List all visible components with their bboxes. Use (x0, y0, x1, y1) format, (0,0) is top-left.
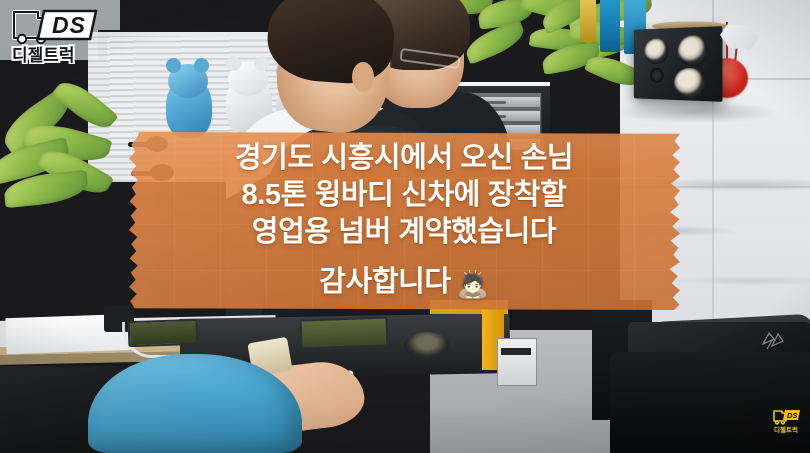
banner-closing-text: 감사합니다 (319, 264, 450, 301)
bowing-person-emoji: 🙇 (457, 271, 489, 297)
svg-text:DS: DS (787, 411, 797, 420)
banner-line-1: 경기도 시흥시에서 오신 손님 (235, 140, 573, 177)
ds-truck-watermark-svg: DS 디젤트럭 (772, 408, 802, 434)
stacked-boxes (497, 338, 537, 386)
box-label (501, 348, 531, 355)
ds-plate: DS (38, 11, 96, 39)
announcement-banner: 경기도 시흥시에서 오신 손님 8.5톤 윙바디 신차에 장착할 영업용 넘버 … (128, 132, 680, 310)
ds-plate: DS (783, 410, 800, 420)
round-object (404, 332, 450, 358)
sofa-seat (610, 352, 810, 453)
banner-text-block: 경기도 시흥시에서 오신 손님 8.5톤 윙바디 신차에 장착할 영업용 넘버 … (128, 132, 680, 310)
banner-line-3: 영업용 넘버 계약했습니다 (252, 214, 556, 251)
ds-truck-logo: DS 디젤트럭 (8, 6, 100, 64)
banner-line-2: 8.5톤 윙바디 신차에 장착할 (242, 177, 567, 214)
banner-closing: 감사합니다 🙇 (319, 264, 488, 301)
video-frame: 경기도 시흥시에서 오신 손님 8.5톤 윙바디 신차에 장착할 영업용 넘버 … (0, 0, 810, 453)
black-speaker (634, 26, 723, 102)
ds-truck-watermark: DS 디젤트럭 (772, 408, 802, 434)
bottle-teal (580, 0, 596, 42)
sofa-emblem-icon (760, 330, 788, 352)
tray-center (300, 316, 389, 349)
tray-left (128, 319, 199, 347)
bottle-blue-1 (600, 0, 620, 52)
svg-text:DS: DS (52, 12, 86, 38)
ds-truck-logo-svg: DS 디젤트럭 (8, 6, 100, 64)
ds-truck-watermark-korean: 디젤트럭 (774, 425, 798, 434)
ds-truck-logo-korean: 디젤트럭 (12, 46, 75, 64)
